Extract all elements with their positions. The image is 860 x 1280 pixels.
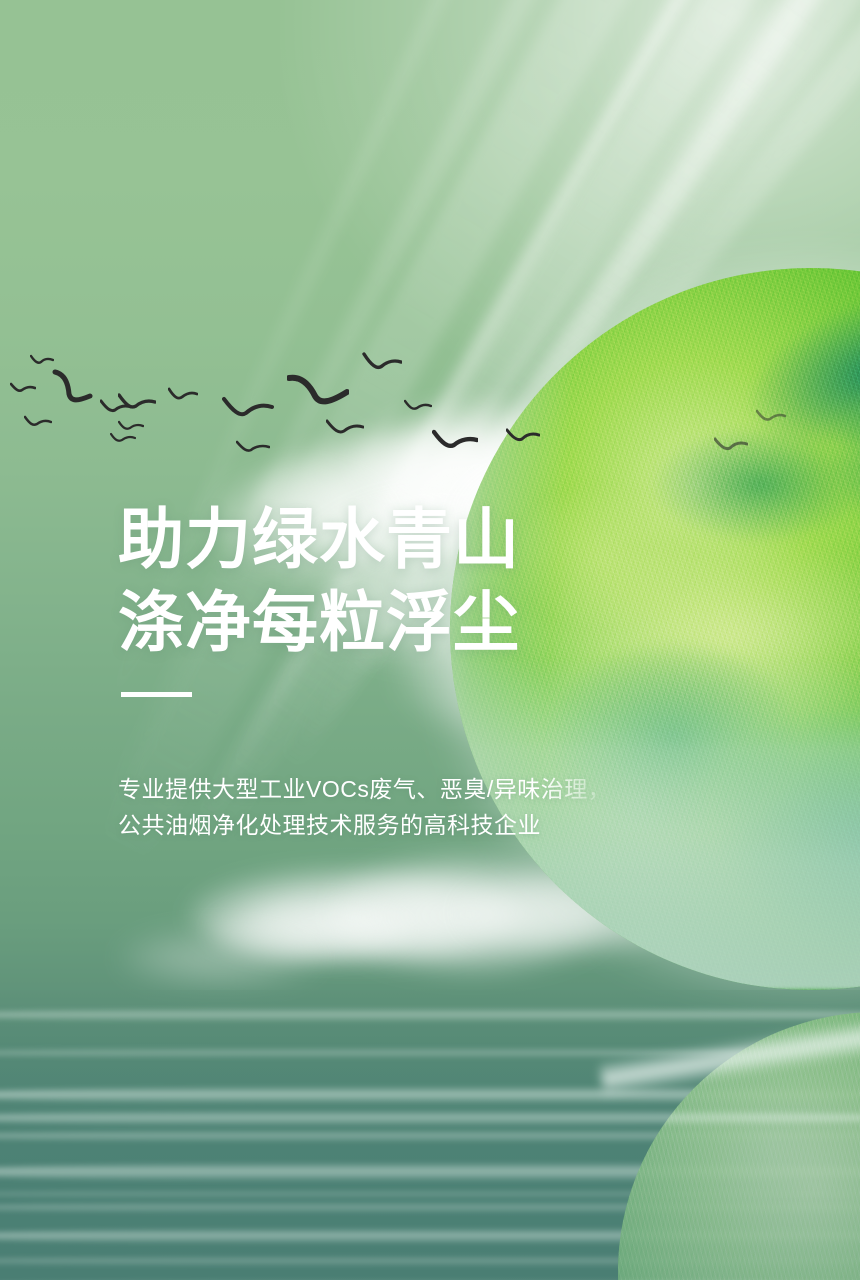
headline-line-2: 涤净每粒浮尘 <box>118 581 520 664</box>
headline-divider <box>121 692 192 697</box>
text-content: 助力绿水青山 涤净每粒浮尘 专业提供大型工业VOCs废气、恶臭/异味治理， 公共… <box>0 0 860 1280</box>
headline: 助力绿水青山 涤净每粒浮尘 <box>118 498 520 664</box>
subtitle-line-2: 公共油烟净化处理技术服务的高科技企业 <box>118 807 611 843</box>
subtitle-line-1: 专业提供大型工业VOCs废气、恶臭/异味治理， <box>118 771 611 807</box>
headline-line-1: 助力绿水青山 <box>118 498 520 581</box>
hero-banner: 助力绿水青山 涤净每粒浮尘 专业提供大型工业VOCs废气、恶臭/异味治理， 公共… <box>0 0 860 1280</box>
subtitle: 专业提供大型工业VOCs废气、恶臭/异味治理， 公共油烟净化处理技术服务的高科技… <box>118 771 611 843</box>
